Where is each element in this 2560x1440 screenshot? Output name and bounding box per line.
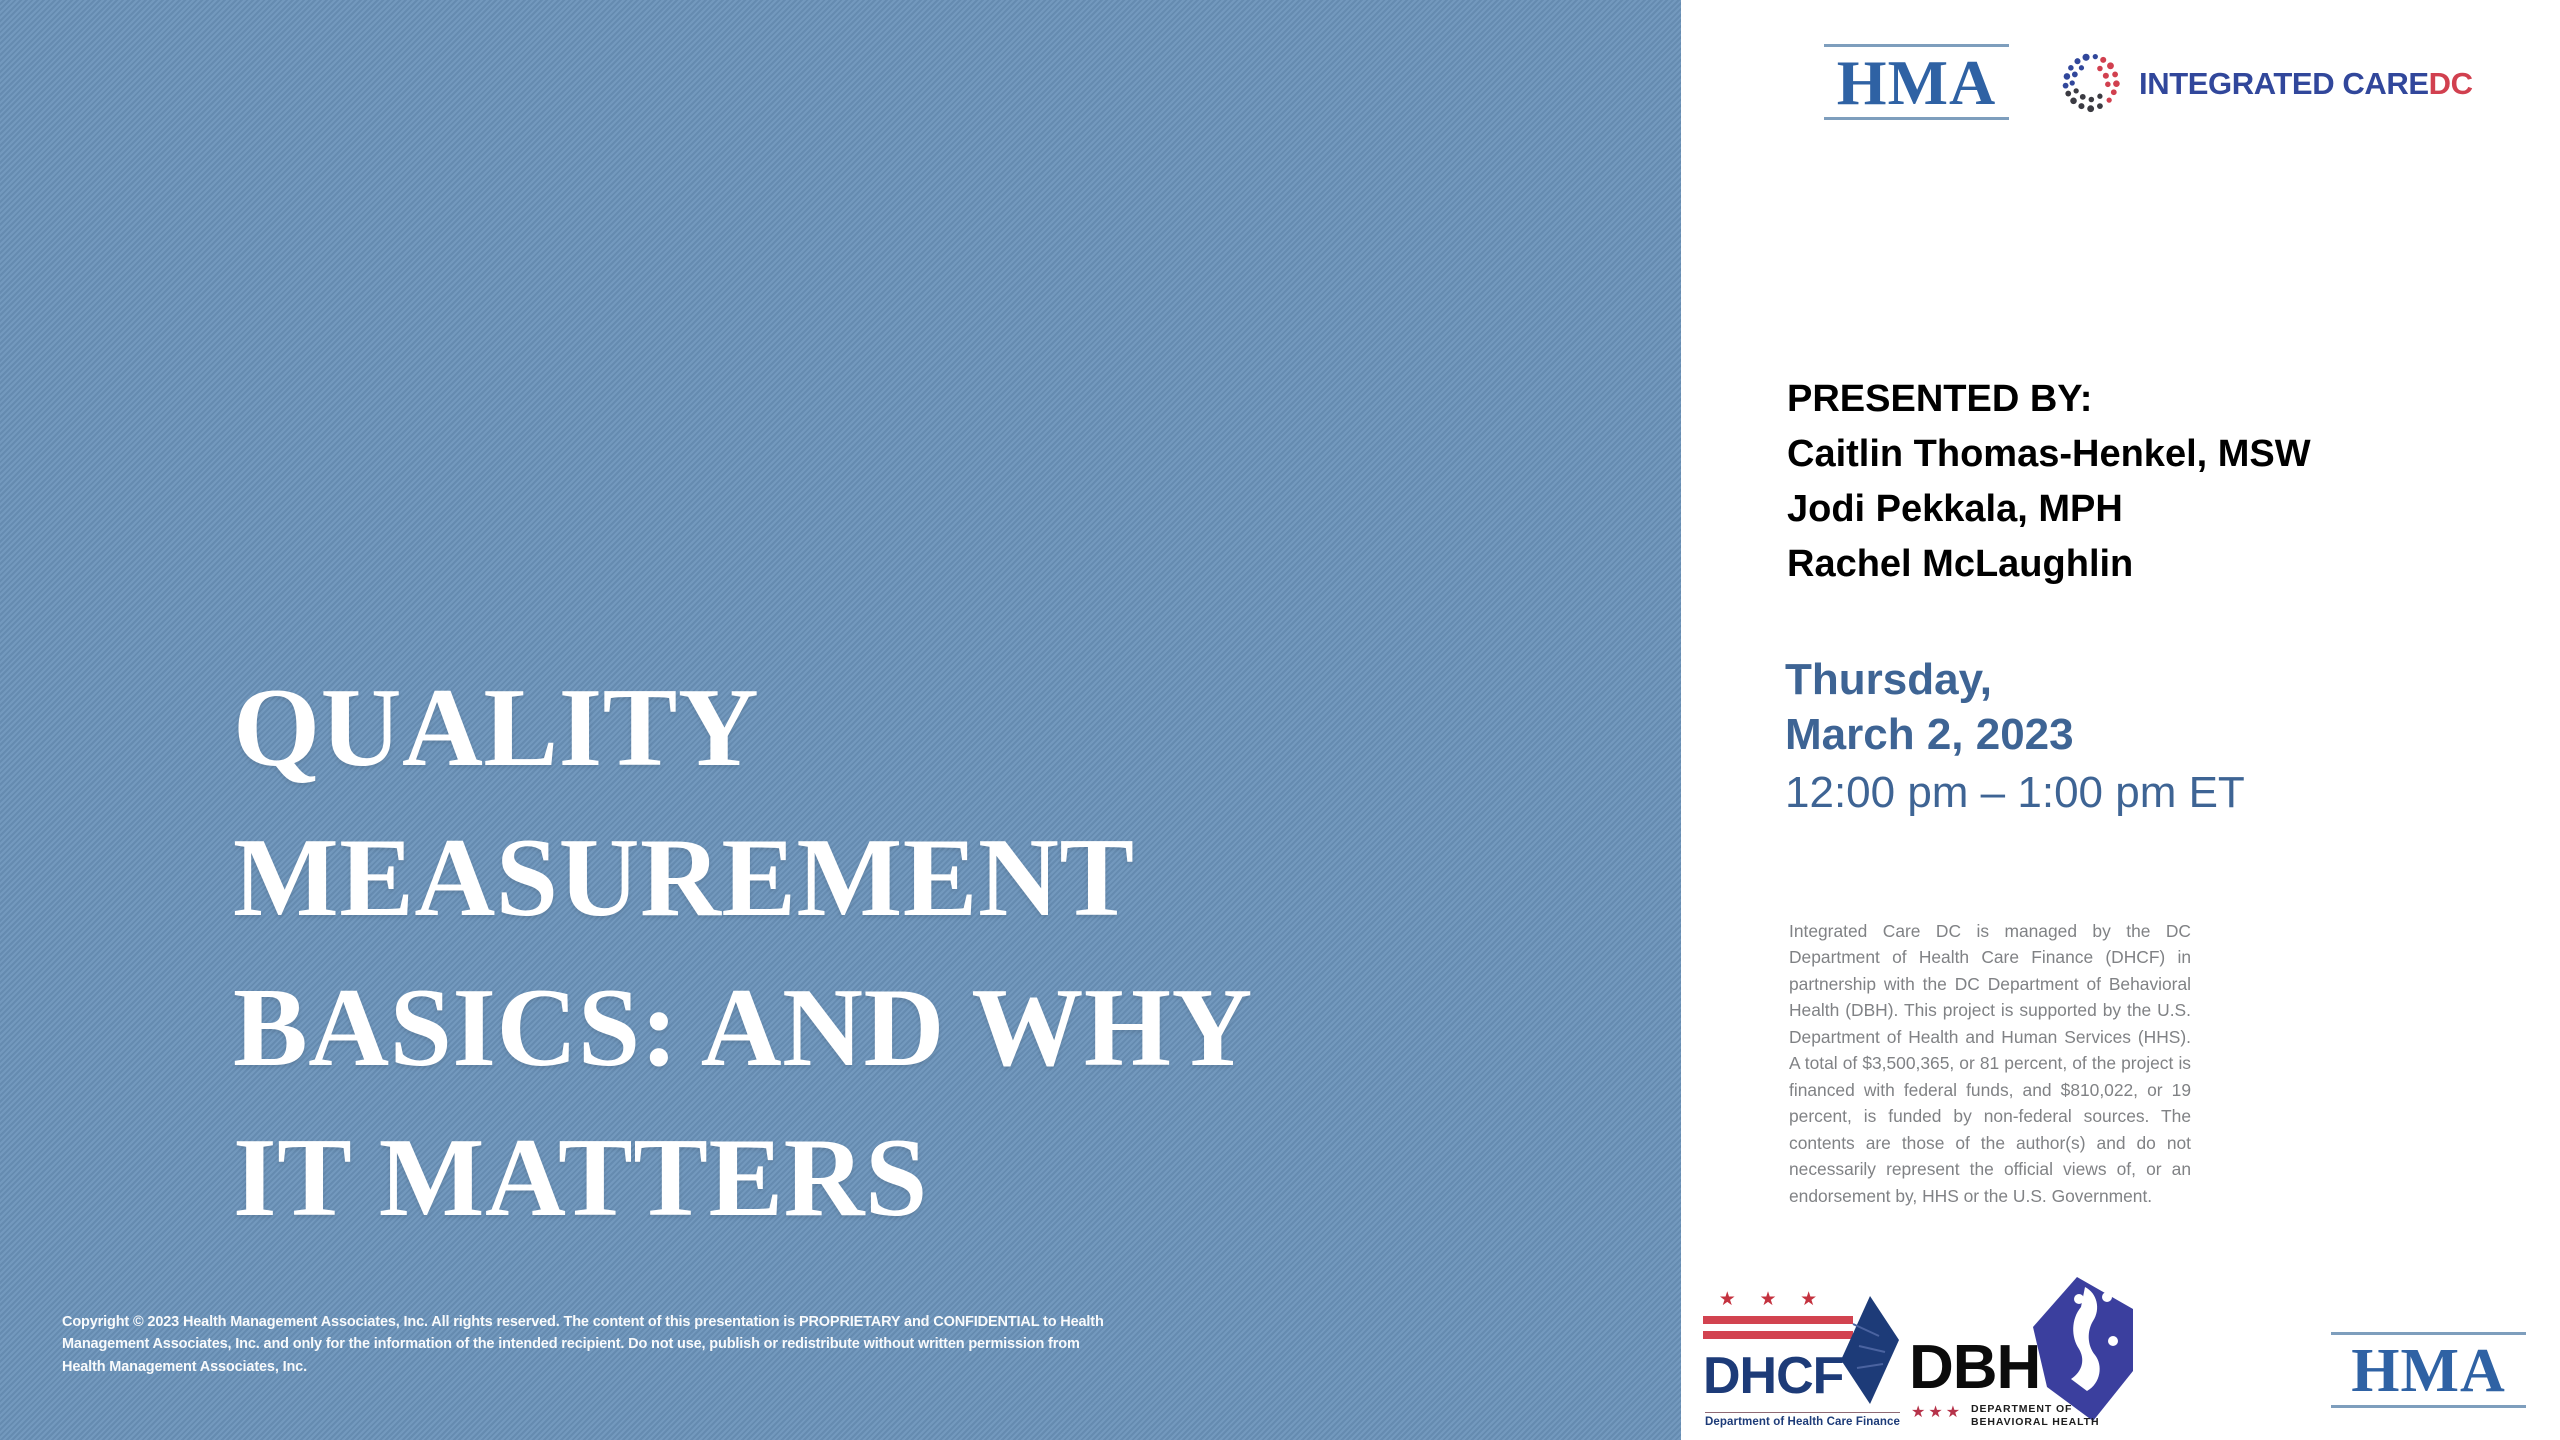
dhcf-subtitle: Department of Health Care Finance bbox=[1705, 1412, 1900, 1428]
dbh-logo: DBH ★★★ DEPARTMENT OF BEHAVIORAL HEALTH bbox=[1909, 1279, 2139, 1434]
dbh-wordmark: DBH bbox=[1909, 1337, 2040, 1399]
integrated-care-text: INTEGRATED CARE bbox=[2139, 66, 2429, 101]
dc-flag-bar-icon bbox=[1703, 1331, 1853, 1339]
event-datetime-block: Thursday, March 2, 2023 12:00 pm – 1:00 … bbox=[1785, 652, 2545, 820]
event-time: 12:00 pm – 1:00 pm ET bbox=[1785, 765, 2545, 820]
dhcf-wordmark: DHCF bbox=[1703, 1350, 1843, 1402]
presenters-block: PRESENTED BY: Caitlin Thomas-Henkel, MSW… bbox=[1787, 372, 2547, 592]
funding-disclaimer: Integrated Care DC is managed by the DC … bbox=[1789, 918, 2191, 1209]
event-day: Thursday, bbox=[1785, 652, 2545, 707]
dbh-subtitle: DEPARTMENT OF BEHAVIORAL HEALTH bbox=[1971, 1403, 2099, 1429]
integrated-care-dc-logo: INTEGRATED CAREDC bbox=[2059, 50, 2473, 116]
dc-flag-icon: ★★★ bbox=[1703, 1290, 1853, 1339]
page-title: QUALITY MEASUREMENT BASICS: AND WHY IT M… bbox=[233, 653, 1533, 1253]
presentation-slide: QUALITY MEASUREMENT BASICS: AND WHY IT M… bbox=[0, 0, 2560, 1440]
top-logo-row: HMA bbox=[1681, 36, 2560, 146]
bottom-logo-row: ★★★ DHCF Department of Health Care Finan… bbox=[1681, 1265, 2560, 1440]
dhcf-logo: ★★★ DHCF Department of Health Care Finan… bbox=[1703, 1284, 1898, 1434]
hma-wordmark: HMA bbox=[1824, 47, 2009, 117]
hma-logo-bottom: HMA bbox=[2331, 1332, 2526, 1408]
hma-logo-top: HMA bbox=[1824, 44, 2009, 120]
presenter-name: Caitlin Thomas-Henkel, MSW bbox=[1787, 427, 2547, 482]
presenter-name: Jodi Pekkala, MPH bbox=[1787, 482, 2547, 537]
event-date: March 2, 2023 bbox=[1785, 707, 2545, 762]
presented-by-heading: PRESENTED BY: bbox=[1787, 372, 2547, 427]
integrated-care-dc-circle-icon bbox=[2059, 50, 2125, 116]
presenter-name: Rachel McLaughlin bbox=[1787, 537, 2547, 592]
dc-map-diamond-icon bbox=[1839, 1294, 1901, 1406]
hma-wordmark: HMA bbox=[2331, 1335, 2526, 1405]
info-panel: HMA bbox=[1681, 0, 2560, 1440]
dbh-stars-icon: ★★★ bbox=[1911, 1405, 1963, 1421]
integrated-care-dc-wordmark: INTEGRATED CAREDC bbox=[2139, 68, 2473, 99]
hma-rule-bottom-icon bbox=[2331, 1405, 2526, 1408]
dc-flag-bar-icon bbox=[1703, 1316, 1853, 1324]
title-panel: QUALITY MEASUREMENT BASICS: AND WHY IT M… bbox=[0, 0, 1681, 1440]
dc-text: DC bbox=[2429, 66, 2473, 101]
copyright-notice: Copyright © 2023 Health Management Assoc… bbox=[62, 1311, 1122, 1378]
dc-flag-stars-icon: ★★★ bbox=[1707, 1290, 1829, 1309]
